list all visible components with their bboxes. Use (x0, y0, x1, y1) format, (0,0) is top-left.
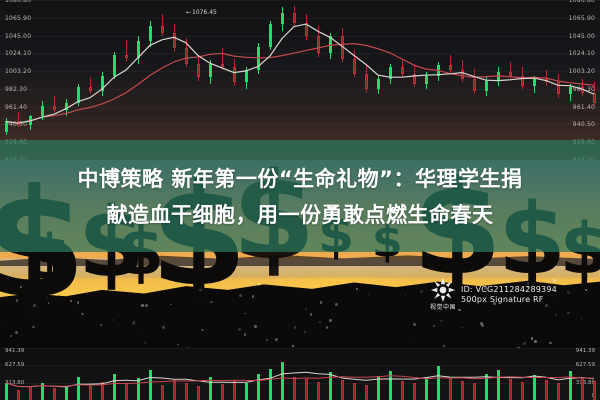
sparkle (258, 283, 260, 285)
sparkle (266, 339, 268, 341)
thumbnail-canvas: 1086.801065.901045.001024.101003.20982.3… (0, 0, 600, 400)
sparkle (413, 341, 414, 342)
sparkle (65, 284, 66, 285)
headline-line-1: 中博策略 新年第一份“生命礼物”：华理学生捐 (78, 163, 523, 193)
sparkle (433, 325, 435, 327)
sparkle (319, 321, 321, 323)
volume-chart-panel: 941.39627.59313.800 941.39627.59313.800 (0, 348, 600, 400)
sparkle (238, 328, 241, 331)
annotation-arrow-icon: ← (186, 9, 191, 16)
sparkle (523, 342, 525, 344)
vcg-star-icon (430, 277, 456, 303)
sparkle (250, 282, 252, 284)
sparkle (79, 306, 80, 307)
sparkle (356, 288, 358, 290)
sparkle (531, 337, 534, 340)
sparkle (320, 301, 323, 304)
moving-average-lines (0, 0, 600, 160)
sparkle (244, 289, 245, 290)
volume-average-lines (0, 348, 600, 400)
sparkle (81, 313, 83, 315)
price-annotation: ←1076.45 (186, 9, 217, 16)
sparkle (201, 329, 204, 332)
sparkle (462, 327, 463, 328)
sparkle (335, 303, 338, 306)
price-chart-panel: 1086.801065.901045.001024.101003.20982.3… (0, 0, 600, 160)
vcg-logo: 视觉中国 (430, 277, 456, 311)
sparkle (310, 313, 312, 315)
sparkle (134, 321, 135, 322)
sparkle (145, 304, 148, 307)
watermark-id: ID: VCG211284289394 (461, 285, 557, 294)
sparkle (368, 294, 369, 295)
sparkle (20, 286, 22, 288)
sparkle (294, 326, 297, 329)
sparkle (55, 294, 57, 296)
annotation-value: 1076.45 (192, 9, 217, 16)
vcg-brand-label: 视觉中国 (430, 305, 456, 311)
sparkle (10, 335, 12, 337)
watermark-license: 500px Signature RF (461, 295, 557, 304)
sparkle (292, 345, 294, 347)
watermark-text: ID: VCG211284289394 500px Signature RF (461, 285, 557, 304)
sparkle (326, 326, 329, 329)
title-overlay-band: 中博策略 新年第一份“生命礼物”：华理学生捐 献造血干细胞，用一份勇敢点燃生命春… (0, 140, 600, 252)
sparkle (48, 302, 50, 304)
headline-line-2: 献造血干细胞，用一份勇敢点燃生命春天 (107, 199, 494, 229)
stock-photo-watermark: 视觉中国 ID: VCG211284289394 500px Signature… (430, 274, 600, 314)
sparkle (16, 299, 19, 302)
sparkle (33, 304, 36, 307)
